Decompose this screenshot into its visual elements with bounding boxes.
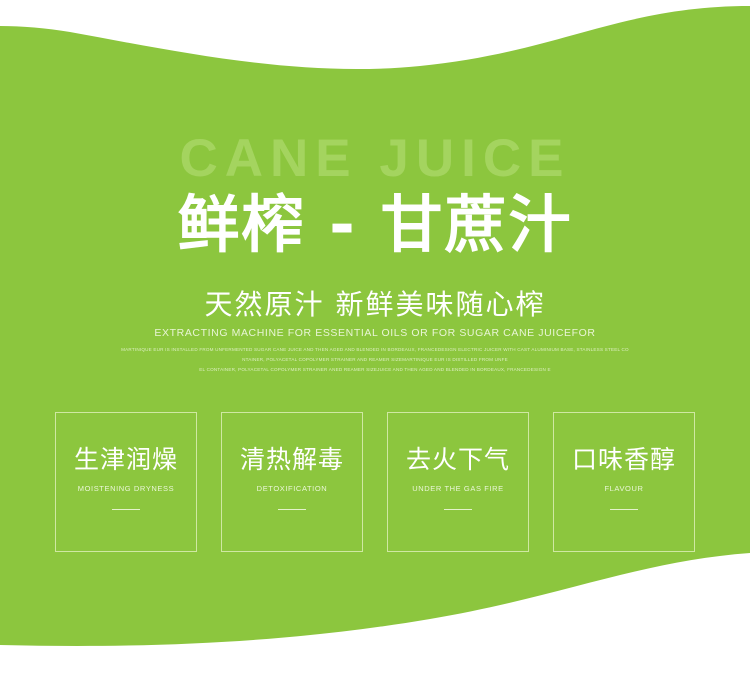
feature-subtitle-4: FLAVOUR bbox=[604, 484, 643, 493]
feature-card-2: 清热解毒 DETOXIFICATION bbox=[221, 412, 363, 552]
feature-subtitle-1: MOISTENING DRYNESS bbox=[78, 484, 175, 493]
poster-content: CANE JUICE 鲜榨 - 甘蔗汁 天然原汁 新鲜美味随心榨 EXTRACT… bbox=[0, 0, 750, 683]
feature-title-2: 清热解毒 bbox=[240, 447, 344, 472]
feature-divider-3 bbox=[444, 509, 472, 510]
feature-card-3: 去火下气 UNDER THE GAS FIRE bbox=[387, 412, 529, 552]
feature-divider-4 bbox=[610, 509, 638, 510]
fine-print-line-3: EL CONTAINER, POLYACETAL COPOLYMER STRAI… bbox=[0, 367, 750, 372]
feature-list: 生津润燥 MOISTENING DRYNESS 清热解毒 DETOXIFICAT… bbox=[55, 412, 695, 552]
ghost-title: CANE JUICE bbox=[0, 128, 750, 189]
feature-title-3: 去火下气 bbox=[406, 447, 510, 472]
fine-print-line-2: NTAINER, POLYACETAL COPOLYMER STRAINER A… bbox=[0, 357, 750, 362]
sub-title: 天然原汁 新鲜美味随心榨 bbox=[0, 283, 750, 323]
fine-print-line-1: MARTINIQUE EUR IS INSTALLED FROM UNFERME… bbox=[0, 347, 750, 352]
english-tagline: EXTRACTING MACHINE FOR ESSENTIAL OILS OR… bbox=[0, 327, 750, 339]
feature-divider-1 bbox=[112, 509, 140, 510]
feature-subtitle-3: UNDER THE GAS FIRE bbox=[412, 484, 504, 493]
poster-canvas: CANE JUICE 鲜榨 - 甘蔗汁 天然原汁 新鲜美味随心榨 EXTRACT… bbox=[0, 0, 750, 683]
feature-title-4: 口味香醇 bbox=[572, 447, 676, 472]
feature-card-4: 口味香醇 FLAVOUR bbox=[553, 412, 695, 552]
feature-subtitle-2: DETOXIFICATION bbox=[257, 484, 328, 493]
main-title: 鲜榨 - 甘蔗汁 bbox=[0, 192, 750, 257]
feature-title-1: 生津润燥 bbox=[74, 447, 178, 472]
feature-divider-2 bbox=[278, 509, 306, 510]
feature-card-1: 生津润燥 MOISTENING DRYNESS bbox=[55, 412, 197, 552]
